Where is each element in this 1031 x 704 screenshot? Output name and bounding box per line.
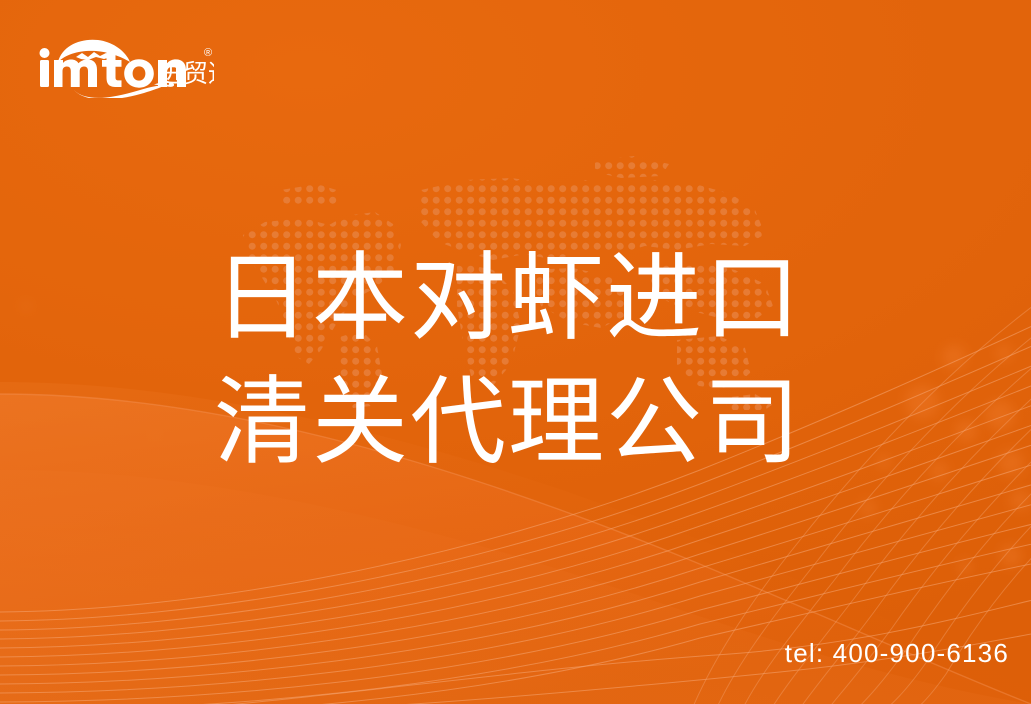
company-logo[interactable]: 进贸通 ®	[36, 32, 214, 98]
contact-phone[interactable]: tel: 400-900-6136	[785, 638, 1009, 669]
globe-icon	[58, 40, 130, 62]
headline-line-2: 清关代理公司	[214, 360, 854, 484]
promotional-banner: 进贸通 ® 日本对虾进口 清关代理公司 tel: 400-900-6136	[0, 0, 1031, 704]
page-title: 日本对虾进口 清关代理公司	[214, 236, 854, 484]
headline-line-1: 日本对虾进口	[214, 236, 854, 360]
logo-chinese-name: 进贸通	[158, 59, 214, 88]
registered-trademark-icon: ®	[204, 47, 212, 59]
